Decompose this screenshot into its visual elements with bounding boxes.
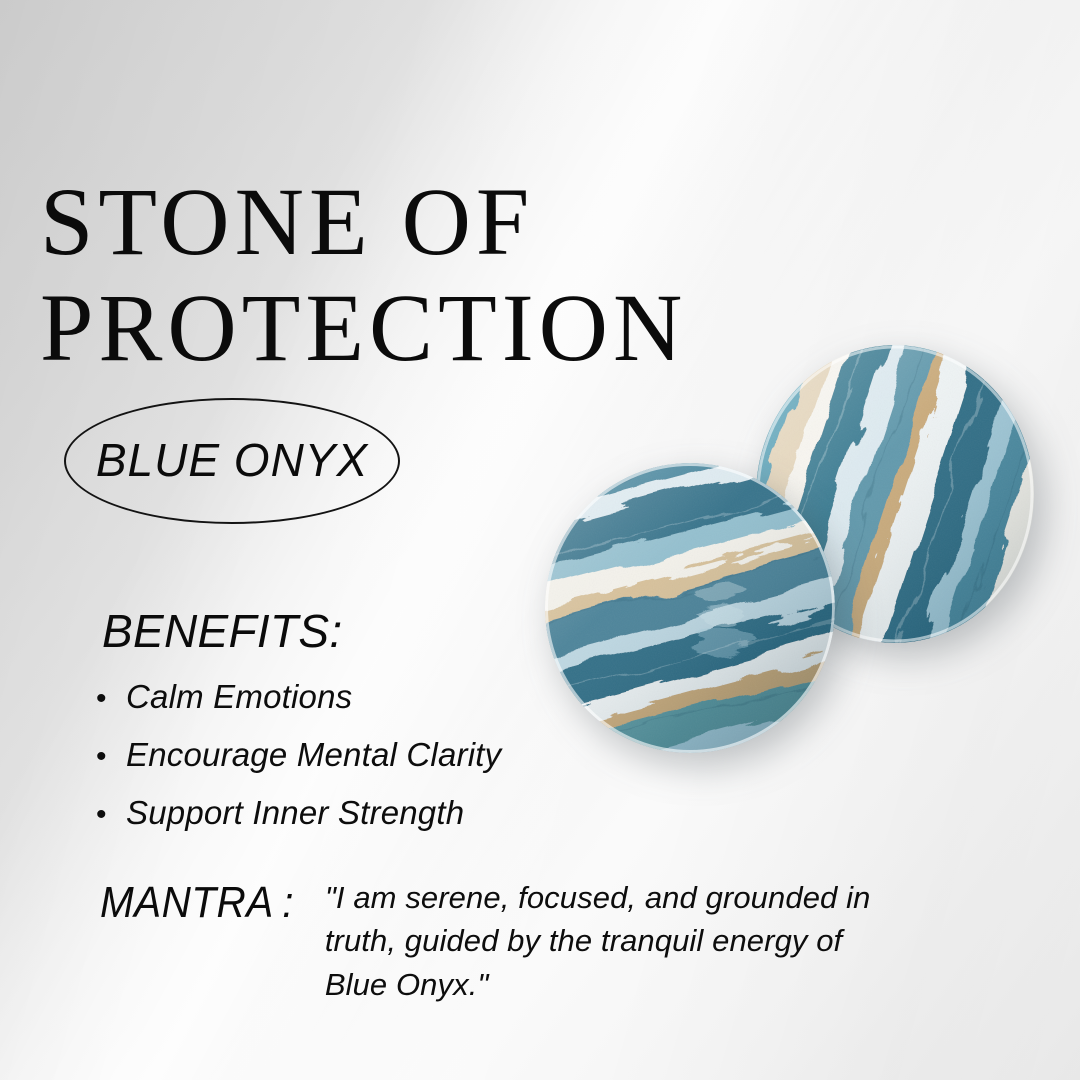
front-stone-image — [545, 463, 835, 753]
bullet-icon: • — [96, 684, 126, 714]
list-item: • Support Inner Strength — [96, 796, 616, 830]
bullet-icon: • — [96, 742, 126, 772]
stone-name-label: BLUE ONYX — [96, 433, 368, 487]
poster-canvas: STONE OF PROTECTION BLUE ONYX BENEFITS: … — [0, 0, 1080, 1080]
benefit-label: Support Inner Strength — [126, 796, 464, 829]
bullet-icon: • — [96, 800, 126, 830]
benefit-label: Calm Emotions — [126, 680, 352, 713]
benefit-label: Encourage Mental Clarity — [126, 738, 501, 771]
mantra-label: MANTRA : — [100, 876, 294, 928]
stone-image-group — [520, 320, 1080, 790]
mantra-section: MANTRA : "I am serene, focused, and grou… — [100, 876, 1000, 1006]
stone-name-badge: BLUE ONYX — [64, 398, 400, 524]
mantra-quote: "I am serene, focused, and grounded in t… — [325, 876, 885, 1006]
